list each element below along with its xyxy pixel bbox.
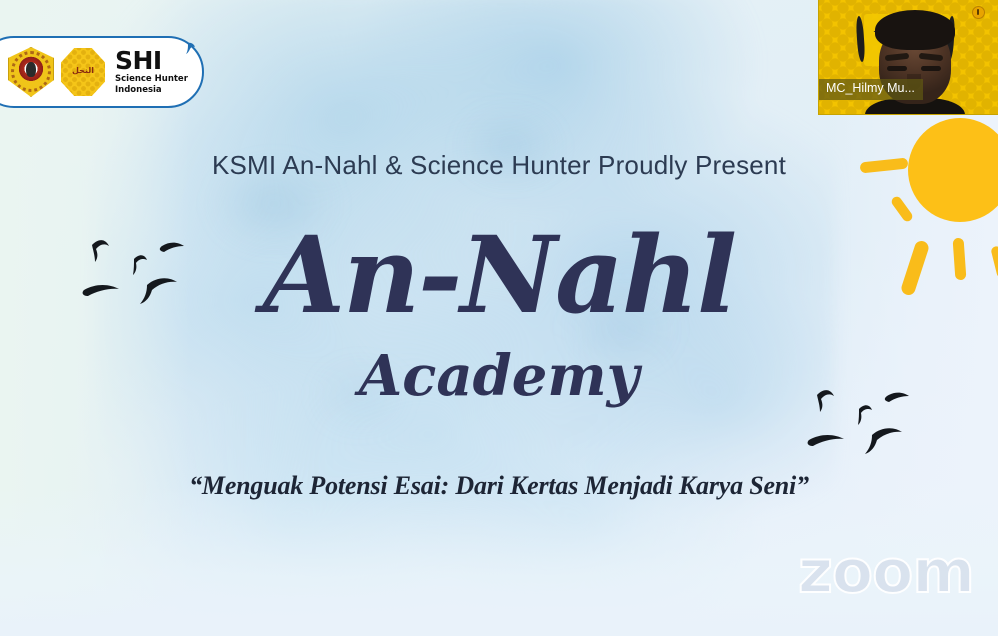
presenter-line: KSMI An-Nahl & Science Hunter Proudly Pr… [0,150,998,181]
shi-subtitle: Science Hunter Indonesia [115,74,188,94]
crest-emblem [15,55,47,88]
shi-acronym: SHI [115,49,188,72]
shi-subtitle-line-1: Science Hunter [115,74,188,84]
shi-subtitle-line-2: Indonesia [115,85,188,95]
shi-logo: SHI Science Hunter Indonesia [115,49,188,94]
zoom-watermark: zoom [798,542,974,602]
organizer-logo-bar: النحل SHI Science Hunter Indonesia [0,36,204,108]
participant-name-label: MC_Hilmy Mu... [819,79,923,100]
zoom-shared-screen: النحل SHI Science Hunter Indonesia KSMI … [0,0,998,636]
slide-brand-subtitle: Academy [0,348,998,404]
participant-eye-right [921,66,941,71]
honeycomb-badge-icon [972,6,985,19]
participant-eye-left [887,66,907,71]
bee-logo-arabic-label: النحل [66,67,100,75]
slide-tagline: “Menguak Potensi Esai: Dari Kertas Menja… [0,471,998,501]
slide-brand-title: An-Nahl [0,222,998,328]
participant-video-thumbnail[interactable]: An-Nahl Aca MC_Hilmy Mu... [818,0,998,115]
participant-face [869,24,961,114]
participant-hair [875,10,955,50]
an-nahl-bee-logo: النحل [61,48,105,96]
hunter-figure-icon [185,42,197,55]
university-crest-logo [8,47,54,97]
